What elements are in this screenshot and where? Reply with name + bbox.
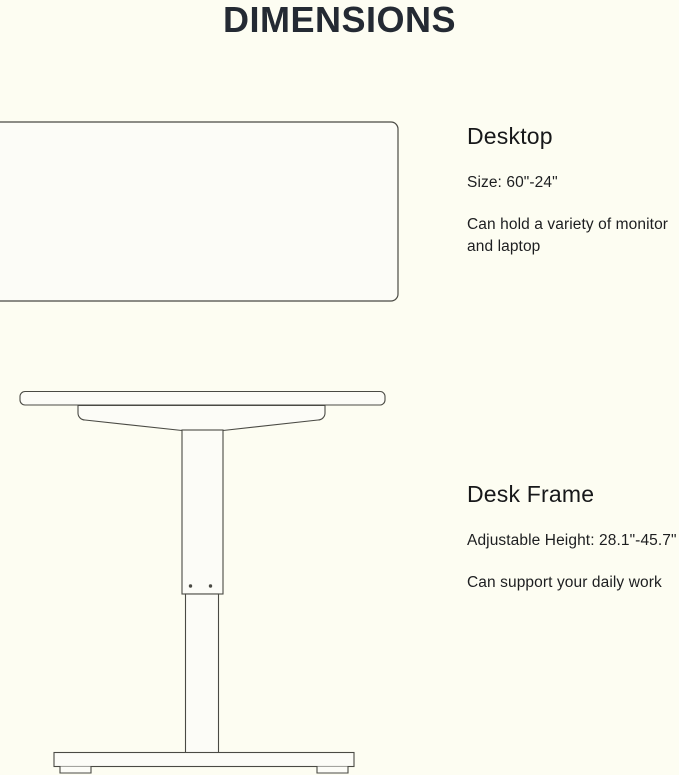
desk-frame-height-text: Adjustable Height: 28.1"-45.7" xyxy=(467,530,679,552)
desktop-description-text: Can hold a variety of monitor and laptop xyxy=(467,214,679,258)
frame-top-support-trapezoid xyxy=(78,406,325,431)
frame-upper-column xyxy=(182,430,223,594)
dimensions-infographic: DIMENSIONS Deskto xyxy=(0,0,679,775)
desktop-size-text: Size: 60"-24" xyxy=(467,172,679,194)
desktop-top-view-drawing xyxy=(0,122,398,301)
desk-frame-heading: Desk Frame xyxy=(467,480,679,508)
desk-frame-side-drawing xyxy=(20,392,385,774)
desk-frame-description-text: Can support your daily work xyxy=(467,572,679,594)
desktop-info-block: Desktop Size: 60"-24" Can hold a variety… xyxy=(467,122,679,258)
desktop-heading: Desktop xyxy=(467,122,679,150)
frame-screw-left-icon xyxy=(189,584,192,587)
frame-foot-right xyxy=(317,767,348,774)
desktop-surface-outline xyxy=(0,122,398,301)
frame-screw-right-icon xyxy=(209,584,212,587)
frame-lower-column xyxy=(186,594,219,753)
desk-frame-info-block: Desk Frame Adjustable Height: 28.1"-45.7… xyxy=(467,480,679,594)
frame-foot-left xyxy=(60,767,91,774)
frame-tabletop-slab xyxy=(20,392,385,406)
frame-base-slab xyxy=(54,753,354,767)
product-drawings xyxy=(0,0,679,775)
